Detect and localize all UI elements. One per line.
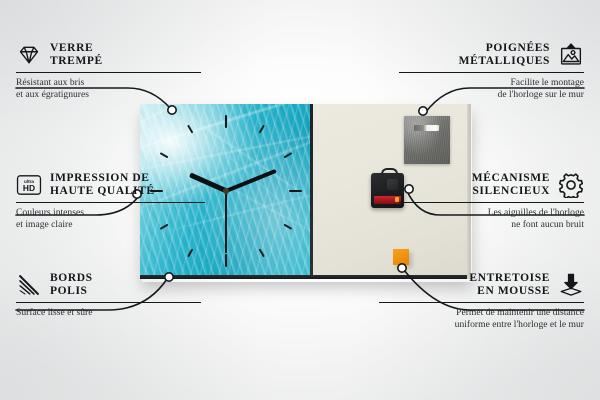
feature-subtitle: Surface lisse et sûre: [16, 307, 212, 318]
hanger-slot: [414, 125, 439, 131]
feature-title: ENTRETOISE EN MOUSSE: [469, 272, 550, 298]
metal-hanger-plate: [404, 116, 450, 164]
feature-rule: [399, 202, 584, 203]
feature-header: BORDS POLIS: [16, 272, 212, 298]
feature-header: ultra HD IMPRESSION DE HAUTE QUALITÉ: [16, 172, 216, 198]
feature-subtitle: Permet de maintenir une distance uniform…: [368, 307, 584, 330]
feature-subtitle: Les aiguilles de l'horloge ne font aucun…: [388, 207, 584, 230]
feature-verre-trempe[interactable]: VERRE TREMPÉ Résistant aux bris et aux é…: [16, 42, 212, 100]
feature-title: MÉCANISME SILENCIEUX: [472, 172, 550, 198]
feature-title: BORDS POLIS: [50, 272, 93, 298]
feature-title: POIGNÉES MÉTALLIQUES: [459, 42, 550, 68]
hands-center-cap: [223, 188, 229, 194]
feature-mecanisme-silencieux[interactable]: MÉCANISME SILENCIEUX Les aiguilles de l'…: [388, 172, 584, 230]
feature-title: VERRE TREMPÉ: [50, 42, 103, 68]
polished-edges-icon: [16, 272, 42, 298]
ultra-hd-badge-icon: ultra HD: [16, 172, 42, 198]
spacer-arrow-icon: [558, 272, 584, 298]
feature-entretoise-en-mousse[interactable]: ENTRETOISE EN MOUSSE Permet de maintenir…: [368, 272, 584, 330]
feature-subtitle: Résistant aux bris et aux égratignures: [16, 77, 212, 100]
diamond-icon: [16, 42, 42, 68]
feature-poignees-metalliques[interactable]: POIGNÉES MÉTALLIQUES Facilite le montage…: [388, 42, 584, 100]
feature-header: VERRE TREMPÉ: [16, 42, 212, 68]
feature-header: ENTRETOISE EN MOUSSE: [368, 272, 584, 298]
foam-spacer-block: [393, 249, 409, 265]
feature-subtitle: Facilite le montage de l'horloge sur le …: [388, 77, 584, 100]
feature-rule: [379, 302, 584, 303]
feature-subtitle: Couleurs intenses et image claire: [16, 207, 216, 230]
second-hand: [225, 191, 227, 253]
feature-rule: [16, 72, 201, 73]
feature-rule: [16, 302, 201, 303]
feature-rule: [16, 202, 205, 203]
feature-rule: [399, 72, 584, 73]
feature-bords-polis[interactable]: BORDS POLIS Surface lisse et sûre: [16, 272, 212, 319]
panel-divider: [310, 104, 313, 278]
hanging-frame-icon: [558, 42, 584, 68]
infographic-canvas: VERRE TREMPÉ Résistant aux bris et aux é…: [0, 0, 600, 400]
feature-header: MÉCANISME SILENCIEUX: [388, 172, 584, 198]
svg-text:HD: HD: [23, 183, 35, 193]
feature-title: IMPRESSION DE HAUTE QUALITÉ: [50, 172, 155, 198]
gear-icon: [558, 172, 584, 198]
feature-impression-haute-qualite[interactable]: ultra HD IMPRESSION DE HAUTE QUALITÉ Cou…: [16, 172, 216, 230]
feature-header: POIGNÉES MÉTALLIQUES: [388, 42, 584, 68]
